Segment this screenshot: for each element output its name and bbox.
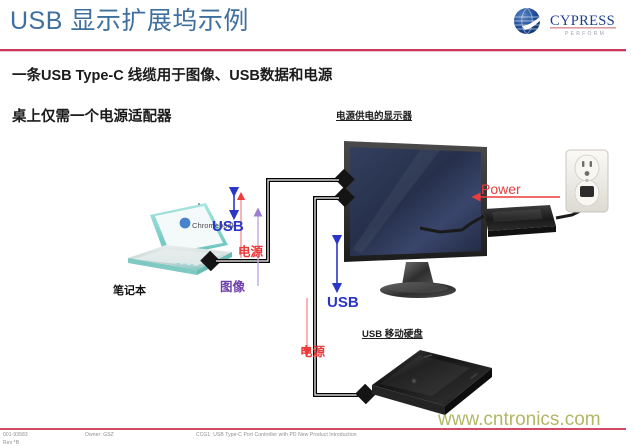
slide-canvas: USB 显示扩展坞示例 CYPRESS PERFORM 一条USB Type-C… <box>0 0 633 445</box>
label-hard-drive: USB 移动硬盘 <box>362 326 423 340</box>
laptop-connector-plug <box>200 251 221 272</box>
bullet-line-2: 桌上仅需一个电源适配器 <box>12 105 172 126</box>
monitor-graphic <box>344 141 487 298</box>
label-power-bottom: 电源 <box>300 341 325 360</box>
label-usb-top: USB <box>212 218 244 235</box>
footer-description: CCG1: USB Type-C Port Controller with PD… <box>196 432 357 438</box>
footer-doc-id: 001-93583 <box>3 432 28 438</box>
svg-text:PERFORM: PERFORM <box>565 31 606 37</box>
monitor-connector-plugs <box>334 169 355 208</box>
harddrive-connector-plug <box>355 384 376 405</box>
label-video: 图像 <box>220 276 245 295</box>
label-monitor: 电源供电的显示器 <box>336 108 412 122</box>
svg-text:CYPRESS: CYPRESS <box>550 13 615 29</box>
header-divider <box>0 49 626 51</box>
label-power-en: Power <box>481 181 521 197</box>
laptop-graphic: Chromebook <box>128 203 236 275</box>
harddrive-graphic <box>372 350 492 415</box>
footer-owner: Owner: GSZ <box>85 432 114 438</box>
bullet-line-1: 一条USB Type-C 线缆用于图像、USB数据和电源 <box>12 64 332 85</box>
label-power-top: 电源 <box>238 241 263 260</box>
cypress-logo: CYPRESS PERFORM <box>507 6 625 40</box>
cypress-logo-mark: CYPRESS PERFORM <box>507 6 625 40</box>
footer-divider <box>0 428 626 430</box>
wall-outlet-graphic <box>566 150 608 212</box>
label-usb-bottom: USB <box>327 294 359 311</box>
power-adapter-graphic <box>420 190 591 237</box>
page-title: USB 显示扩展坞示例 <box>10 6 249 37</box>
footer-doc-rev: Rev *B <box>3 440 19 446</box>
label-laptop: 笔记本 <box>113 282 146 298</box>
